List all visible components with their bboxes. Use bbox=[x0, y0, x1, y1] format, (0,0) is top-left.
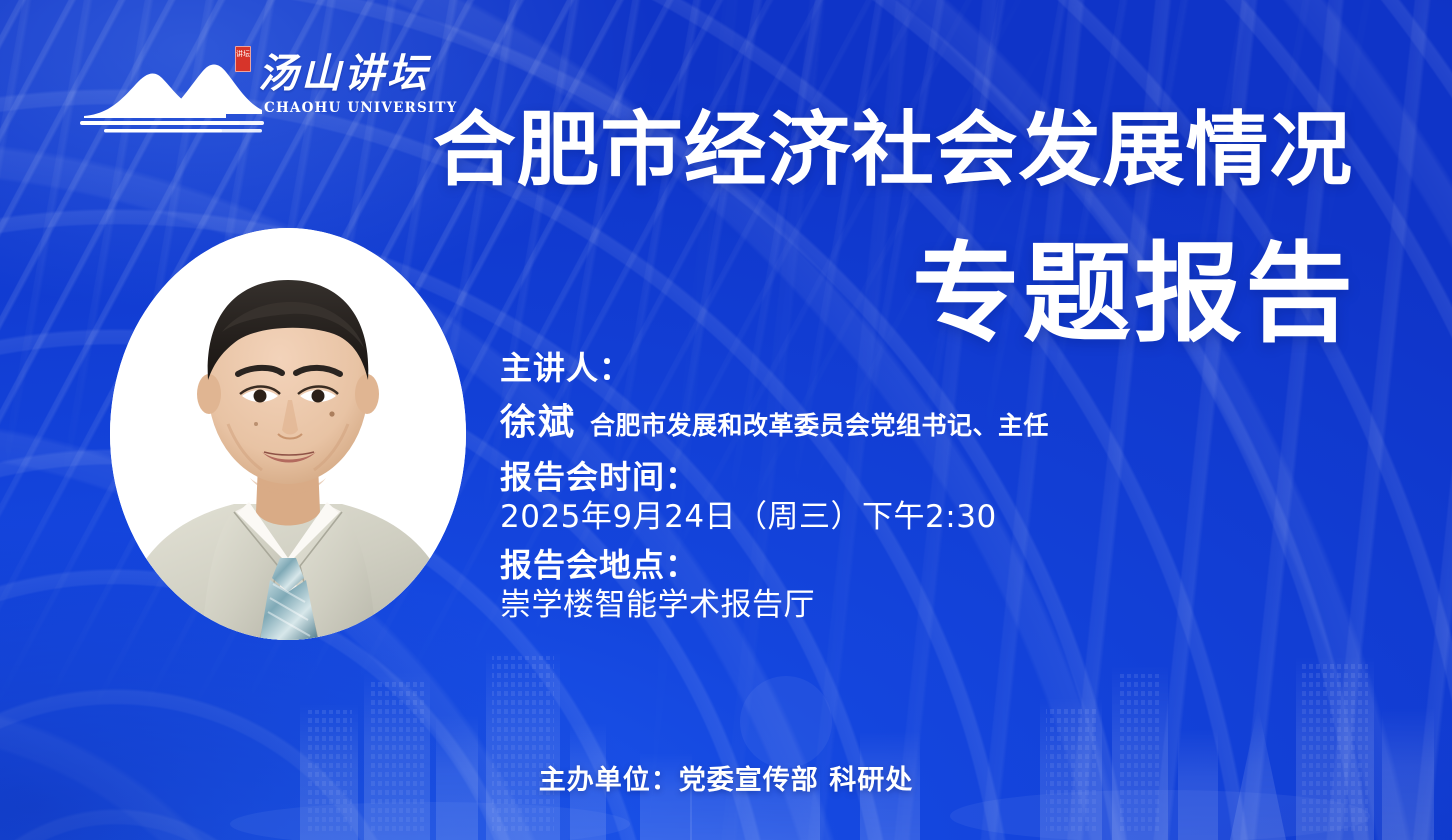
poster-title-line-2: 专题报告 bbox=[912, 241, 1356, 349]
brand-logo[interactable]: 讲坛 汤山讲坛 CHAOHU UNIVERSITY bbox=[78, 48, 418, 140]
speaker-name: 徐斌 bbox=[500, 400, 576, 446]
speaker-label: 主讲人： bbox=[500, 348, 1200, 388]
speaker-photo-illustration bbox=[110, 228, 466, 640]
place-label: 报告会地点： bbox=[500, 545, 1200, 585]
speaker-job-title: 合肥市发展和改革委员会党组书记、主任 bbox=[590, 403, 1049, 449]
place-value: 崇学楼智能学术报告厅 bbox=[500, 585, 1200, 625]
speaker-row: 徐斌 合肥市发展和改革委员会党组书记、主任 bbox=[500, 400, 1200, 449]
poster-canvas: 讲坛 汤山讲坛 CHAOHU UNIVERSITY 合肥市经济社会发展情况 专题… bbox=[0, 0, 1452, 840]
city-skyline-illustration bbox=[0, 610, 1452, 840]
organizer-footer: 主办单位：党委宣传部 科研处 bbox=[0, 758, 1452, 797]
speaker-portrait bbox=[110, 228, 466, 640]
event-info-block: 主讲人： 徐斌 合肥市发展和改革委员会党组书记、主任 报告会时间： 2025年9… bbox=[500, 348, 1200, 625]
time-label: 报告会时间： bbox=[500, 457, 1200, 497]
logo-chinese-name: 汤山讲坛 bbox=[258, 54, 430, 94]
red-seal-icon: 讲坛 bbox=[235, 46, 251, 72]
poster-title-line-1: 合肥市经济社会发展情况 bbox=[433, 111, 1353, 192]
time-value: 2025年9月24日（周三）下午2:30 bbox=[500, 497, 1200, 537]
logo-english-name: CHAOHU UNIVERSITY bbox=[264, 102, 458, 116]
seal-text: 讲坛 bbox=[235, 46, 251, 58]
